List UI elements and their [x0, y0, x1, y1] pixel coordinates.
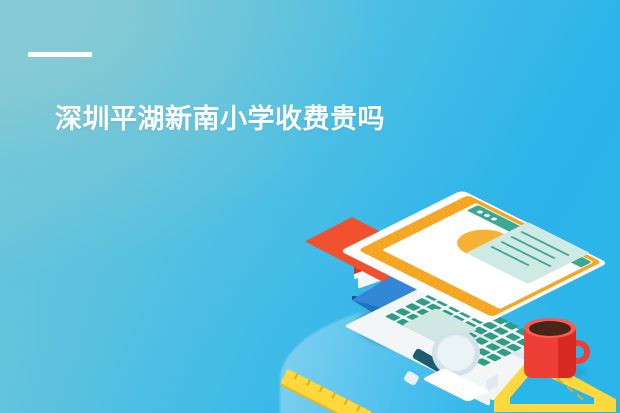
- ruler-icon: [284, 350, 424, 413]
- accent-rule: [28, 52, 92, 57]
- eraser-icon: [440, 368, 500, 408]
- page-title: 深圳平湖新南小学收费贵吗: [55, 101, 385, 137]
- desk-illustration: [290, 178, 620, 413]
- coffee-mug-icon: [516, 316, 596, 396]
- page-banner: 深圳平湖新南小学收费贵吗: [0, 0, 620, 413]
